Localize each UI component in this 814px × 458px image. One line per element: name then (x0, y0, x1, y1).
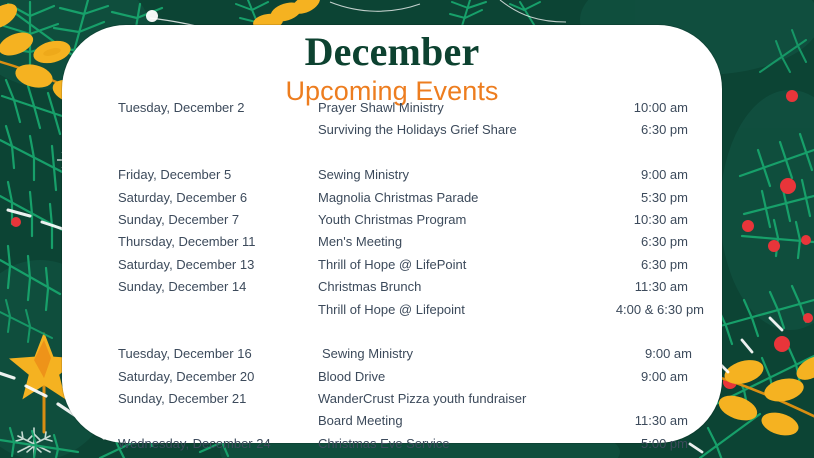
event-time: 6:30 pm (578, 123, 688, 137)
event-row: Sunday, December 21WanderCrust Pizza you… (118, 392, 688, 414)
event-name: Thrill of Hope @ LifePoint (318, 258, 578, 272)
event-date: Sunday, December 7 (118, 213, 318, 227)
event-name: Christmas Brunch (318, 280, 578, 294)
events-list: Tuesday, December 2Prayer Shawl Ministry… (118, 101, 688, 458)
event-row: Wednesday, December 24Christmas Eve Serv… (118, 437, 688, 458)
event-date: Friday, December 5 (118, 168, 318, 182)
event-row: Sunday, December 7Youth Christmas Progra… (118, 213, 688, 235)
event-time: 5:00 pm (578, 437, 688, 451)
event-row (118, 146, 688, 168)
event-time: 9:00 am (578, 370, 688, 384)
event-date: Saturday, December 20 (118, 370, 318, 384)
event-row: Saturday, December 13Thrill of Hope @ Li… (118, 258, 688, 280)
event-row: Board Meeting11:30 am (118, 414, 688, 436)
event-row: Saturday, December 6Magnolia Christmas P… (118, 191, 688, 213)
event-name: Surviving the Holidays Grief Share (318, 123, 578, 137)
events-card: December Upcoming Events Tuesday, Decemb… (62, 25, 722, 443)
event-row: Thursday, December 11Men's Meeting6:30 p… (118, 235, 688, 257)
page-title: December (62, 30, 722, 74)
december-events-poster: December Upcoming Events Tuesday, Decemb… (0, 0, 814, 458)
event-time: 11:30 am (578, 414, 688, 428)
event-name: Board Meeting (318, 414, 578, 428)
event-time: 6:30 pm (578, 258, 688, 272)
event-name: Blood Drive (318, 370, 578, 384)
event-date: Thursday, December 11 (118, 235, 318, 249)
event-date: Wednesday, December 24 (118, 437, 318, 451)
event-name: Sewing Ministry (318, 347, 582, 361)
event-name: WanderCrust Pizza youth fundraiser (318, 392, 578, 406)
poster-heading: December Upcoming Events (62, 30, 722, 106)
event-date: Saturday, December 13 (118, 258, 318, 272)
event-row: Sunday, December 14Christmas Brunch11:30… (118, 280, 688, 302)
event-time: 5:30 pm (578, 191, 688, 205)
event-time: 10:30 am (578, 213, 688, 227)
event-time: 6:30 pm (578, 235, 688, 249)
event-name: Youth Christmas Program (318, 213, 578, 227)
event-name: Christmas Eve Service (318, 437, 578, 451)
event-row: Thrill of Hope @ Lifepoint4:00 & 6:30 pm (118, 303, 688, 325)
event-date: Saturday, December 6 (118, 191, 318, 205)
event-name: Thrill of Hope @ Lifepoint (318, 303, 578, 317)
event-time: 9:00 am (582, 347, 692, 361)
event-date: Tuesday, December 2 (118, 101, 318, 115)
event-time: 10:00 am (578, 101, 688, 115)
event-row: Friday, December 5Sewing Ministry9:00 am (118, 168, 688, 190)
event-time: 9:00 am (578, 168, 688, 182)
event-name: Magnolia Christmas Parade (318, 191, 578, 205)
event-row: Tuesday, December 2Prayer Shawl Ministry… (118, 101, 688, 123)
event-date: Sunday, December 21 (118, 392, 318, 406)
event-name: Prayer Shawl Ministry (318, 101, 578, 115)
event-row (118, 325, 688, 347)
event-row: Saturday, December 20Blood Drive9:00 am (118, 370, 688, 392)
event-row: Surviving the Holidays Grief Share6:30 p… (118, 123, 688, 145)
event-time: 4:00 & 6:30 pm (578, 303, 704, 317)
event-time: 11:30 am (578, 280, 688, 294)
event-date: Sunday, December 14 (118, 280, 318, 294)
event-row: Tuesday, December 16Sewing Ministry9:00 … (118, 347, 688, 369)
event-name: Men's Meeting (318, 235, 578, 249)
event-date: Tuesday, December 16 (118, 347, 318, 361)
event-name: Sewing Ministry (318, 168, 578, 182)
